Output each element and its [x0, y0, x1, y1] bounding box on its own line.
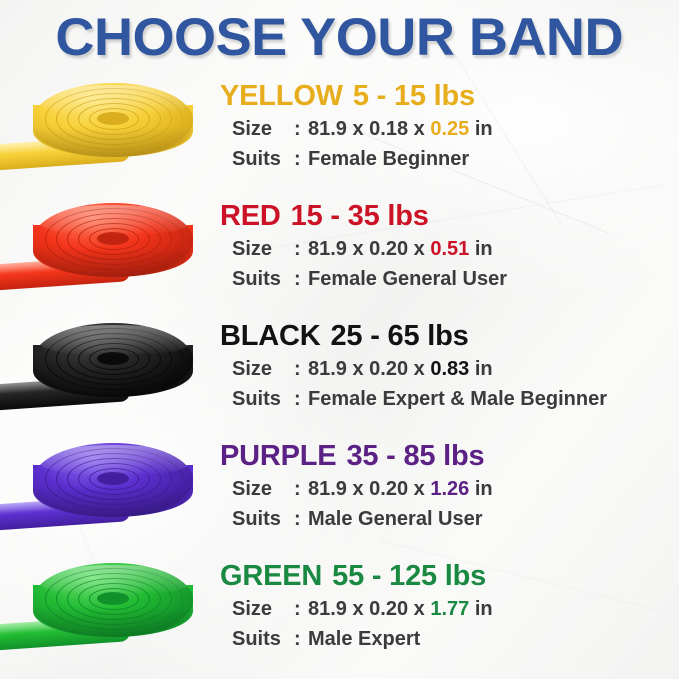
suits-value: Female Beginner	[308, 148, 469, 170]
band-row: BLACK25 - 65 lbs Size:81.9 x 0.20 x 0.83…	[0, 315, 679, 435]
band-coil-core	[97, 112, 129, 125]
size-thickness-highlight: 0.51	[430, 238, 469, 260]
size-thickness-highlight: 1.77	[430, 598, 469, 620]
suits-label: Suits	[232, 507, 294, 531]
band-image-purple	[0, 435, 210, 555]
title-bar: CHOOSE YOUR BAND	[0, 8, 679, 68]
band-info-black: BLACK25 - 65 lbs Size:81.9 x 0.20 x 0.83…	[218, 315, 679, 435]
band-image-green	[0, 555, 210, 675]
band-weight-range: 25 - 65 lbs	[331, 320, 469, 352]
band-suits-row: Suits:Male Expert	[232, 627, 420, 651]
suits-colon: :	[294, 387, 308, 411]
size-unit: in	[475, 478, 493, 500]
size-prefix: 81.9 x 0.18 x	[308, 118, 425, 140]
size-colon: :	[294, 237, 308, 261]
size-prefix: 81.9 x 0.20 x	[308, 238, 425, 260]
size-unit: in	[475, 118, 493, 140]
band-name: PURPLE	[220, 440, 336, 472]
size-unit: in	[475, 358, 493, 380]
band-name: BLACK	[220, 320, 321, 352]
band-heading: RED15 - 35 lbs	[220, 199, 429, 233]
suits-value: Female General User	[308, 268, 507, 290]
band-image-black	[0, 315, 210, 435]
band-info-yellow: YELLOW5 - 15 lbs Size:81.9 x 0.18 x 0.25…	[218, 75, 679, 195]
band-name: RED	[220, 200, 281, 232]
band-suits-row: Suits:Female Expert & Male Beginner	[232, 387, 607, 411]
band-heading: BLACK25 - 65 lbs	[220, 319, 469, 353]
band-row: PURPLE35 - 85 lbs Size:81.9 x 0.20 x 1.2…	[0, 435, 679, 555]
band-name: GREEN	[220, 560, 322, 592]
band-coil-core	[97, 352, 129, 365]
suits-value: Male General User	[308, 508, 483, 530]
band-size-row: Size:81.9 x 0.20 x 0.51 in	[232, 237, 493, 261]
band-size-row: Size:81.9 x 0.20 x 1.26 in	[232, 477, 493, 501]
size-prefix: 81.9 x 0.20 x	[308, 478, 425, 500]
size-label: Size	[232, 597, 294, 621]
size-label: Size	[232, 117, 294, 141]
suits-colon: :	[294, 507, 308, 531]
band-info-green: GREEN55 - 125 lbs Size:81.9 x 0.20 x 1.7…	[218, 555, 679, 675]
suits-colon: :	[294, 147, 308, 171]
band-weight-range: 55 - 125 lbs	[332, 560, 486, 592]
size-colon: :	[294, 357, 308, 381]
band-size-row: Size:81.9 x 0.18 x 0.25 in	[232, 117, 493, 141]
size-unit: in	[475, 238, 493, 260]
suits-value: Female Expert & Male Beginner	[308, 388, 607, 410]
size-colon: :	[294, 477, 308, 501]
size-colon: :	[294, 597, 308, 621]
band-heading: GREEN55 - 125 lbs	[220, 559, 486, 593]
band-image-red	[0, 195, 210, 315]
size-label: Size	[232, 477, 294, 501]
band-row: GREEN55 - 125 lbs Size:81.9 x 0.20 x 1.7…	[0, 555, 679, 675]
band-size-row: Size:81.9 x 0.20 x 0.83 in	[232, 357, 493, 381]
band-weight-range: 35 - 85 lbs	[346, 440, 484, 472]
suits-label: Suits	[232, 387, 294, 411]
band-name: YELLOW	[220, 80, 343, 112]
suits-label: Suits	[232, 147, 294, 171]
suits-colon: :	[294, 267, 308, 291]
suits-colon: :	[294, 627, 308, 651]
band-suits-row: Suits:Male General User	[232, 507, 483, 531]
suits-label: Suits	[232, 267, 294, 291]
size-label: Size	[232, 237, 294, 261]
band-size-row: Size:81.9 x 0.20 x 1.77 in	[232, 597, 493, 621]
size-thickness-highlight: 0.83	[430, 358, 469, 380]
suits-label: Suits	[232, 627, 294, 651]
band-info-purple: PURPLE35 - 85 lbs Size:81.9 x 0.20 x 1.2…	[218, 435, 679, 555]
size-colon: :	[294, 117, 308, 141]
band-row: YELLOW5 - 15 lbs Size:81.9 x 0.18 x 0.25…	[0, 75, 679, 195]
band-coil-core	[97, 232, 129, 245]
band-info-red: RED15 - 35 lbs Size:81.9 x 0.20 x 0.51 i…	[218, 195, 679, 315]
poster-canvas: CHOOSE YOUR BAND YELLOW5 - 15 lbs Size:8…	[0, 0, 679, 679]
band-coil-core	[97, 472, 129, 485]
band-heading: YELLOW5 - 15 lbs	[220, 79, 475, 113]
size-thickness-highlight: 0.25	[430, 118, 469, 140]
suits-value: Male Expert	[308, 628, 420, 650]
page-title: CHOOSE YOUR BAND	[56, 8, 624, 68]
size-prefix: 81.9 x 0.20 x	[308, 598, 425, 620]
band-heading: PURPLE35 - 85 lbs	[220, 439, 484, 473]
band-weight-range: 15 - 35 lbs	[291, 200, 429, 232]
size-unit: in	[475, 598, 493, 620]
size-prefix: 81.9 x 0.20 x	[308, 358, 425, 380]
band-coil-core	[97, 592, 129, 605]
size-label: Size	[232, 357, 294, 381]
band-suits-row: Suits:Female General User	[232, 267, 507, 291]
band-row: RED15 - 35 lbs Size:81.9 x 0.20 x 0.51 i…	[0, 195, 679, 315]
band-image-yellow	[0, 75, 210, 195]
size-thickness-highlight: 1.26	[430, 478, 469, 500]
band-weight-range: 5 - 15 lbs	[353, 80, 475, 112]
band-suits-row: Suits:Female Beginner	[232, 147, 469, 171]
